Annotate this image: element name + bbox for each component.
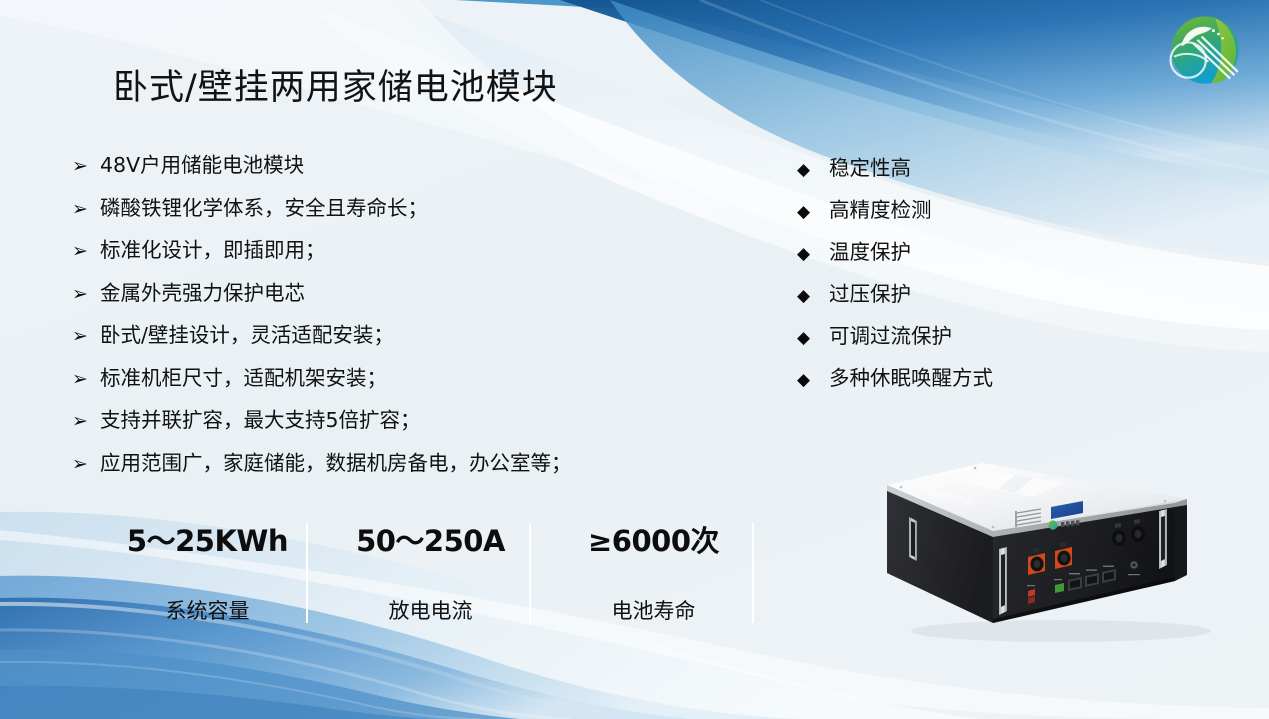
list-item: ◆ 高精度检测 [797,200,993,221]
arrow-bullet-icon: ➢ [72,285,100,304]
list-item: ◆ 可调过流保护 [797,326,993,347]
stat-label: 放电电流 [323,595,538,625]
arrow-bullet-icon: ➢ [72,242,100,261]
list-item: ◆ 多种休眠唤醒方式 [797,368,993,389]
rack-battery-module-image [865,445,1245,655]
list-item-label: 金属外壳强力保护电芯 [100,283,305,304]
list-item-label: 支持并联扩容，最大支持5倍扩容； [100,410,421,431]
diamond-bullet-icon: ◆ [797,204,829,221]
diamond-bullet-icon: ◆ [797,246,829,263]
arrow-bullet-icon: ➢ [72,455,100,474]
stat-label: 系统容量 [100,595,315,625]
left-feature-list: ➢ 48V户用储能电池模块 ➢ 磷酸铁锂化学体系，安全且寿命长； ➢ 标准化设计… [72,155,712,495]
list-item: ◆ 稳定性高 [797,158,993,179]
spec-stats-row: 5〜25KWh 系统容量 50〜250A 放电电流 ≥6000次 电池寿命 [80,518,760,628]
list-item: ➢ 支持并联扩容，最大支持5倍扩容； [72,410,712,431]
diamond-bullet-icon: ◆ [797,162,829,179]
list-item-label: 标准化设计，即插即用； [100,240,326,261]
list-item-label: 卧式/壁挂设计，灵活适配安装； [100,325,394,346]
arrow-bullet-icon: ➢ [72,200,100,219]
list-item-label: 稳定性高 [829,158,911,179]
list-item: ➢ 磷酸铁锂化学体系，安全且寿命长； [72,198,712,219]
right-feature-list: ◆ 稳定性高 ◆ 高精度检测 ◆ 温度保护 ◆ 过压保护 ◆ 可调过流保护 ◆ … [797,158,993,410]
arrow-bullet-icon: ➢ [72,412,100,431]
list-item: ➢ 48V户用储能电池模块 [72,155,712,176]
diamond-bullet-icon: ◆ [797,372,829,389]
stat-battery-life: ≥6000次 电池寿命 [546,518,761,625]
stat-divider [752,523,754,623]
list-item: ➢ 金属外壳强力保护电芯 [72,283,712,304]
list-item: ➢ 标准机柜尺寸，适配机架安装； [72,368,712,389]
list-item-label: 标准机柜尺寸，适配机架安装； [100,368,387,389]
stat-system-capacity: 5〜25KWh 系统容量 [100,518,315,625]
stat-label: 电池寿命 [546,595,761,625]
arrow-bullet-icon: ➢ [72,370,100,389]
list-item-label: 多种休眠唤醒方式 [829,368,993,389]
list-item-label: 过压保护 [829,284,911,305]
list-item-label: 高精度检测 [829,200,932,221]
slide-root: 卧式/壁挂两用家储电池模块 ➢ 48V户用储能电池模块 ➢ 磷酸铁锂化学体系，安… [0,0,1269,719]
diamond-bullet-icon: ◆ [797,288,829,305]
list-item: ➢ 应用范围广，家庭储能，数据机房备电，办公室等； [72,453,712,474]
arrow-bullet-icon: ➢ [72,157,100,176]
page-title: 卧式/壁挂两用家储电池模块 [113,59,558,110]
list-item-label: 可调过流保护 [829,326,952,347]
list-item-label: 应用范围广，家庭储能，数据机房备电，办公室等； [100,453,572,474]
list-item-label: 磷酸铁锂化学体系，安全且寿命长； [100,198,428,219]
list-item: ➢ 卧式/壁挂设计，灵活适配安装； [72,325,712,346]
diamond-bullet-icon: ◆ [797,330,829,347]
list-item: ◆ 过压保护 [797,284,993,305]
stat-value: 5〜25KWh [100,518,315,560]
stat-divider [306,523,308,623]
arrow-bullet-icon: ➢ [72,327,100,346]
stat-value: 50〜250A [323,518,538,560]
stat-value: ≥6000次 [546,518,761,560]
stat-discharge-current: 50〜250A 放电电流 [323,518,538,625]
list-item-label: 温度保护 [829,242,911,263]
list-item-label: 48V户用储能电池模块 [100,155,304,176]
list-item: ◆ 温度保护 [797,242,993,263]
list-item: ➢ 标准化设计，即插即用； [72,240,712,261]
leaf-globe-logo [1163,8,1247,92]
stat-divider [529,523,531,623]
